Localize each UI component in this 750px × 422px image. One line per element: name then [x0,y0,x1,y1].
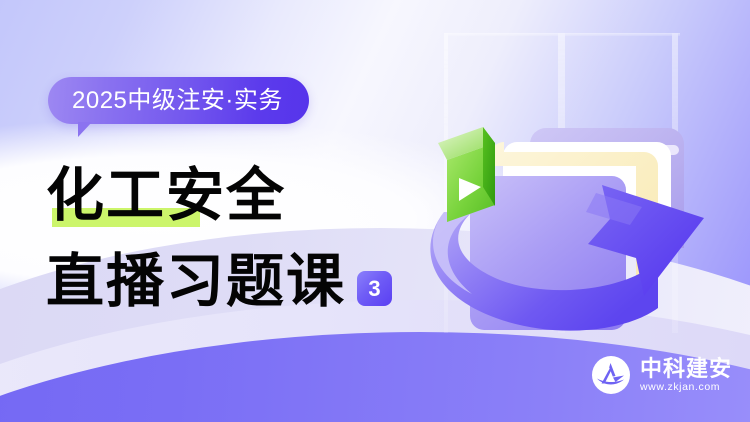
badge-label: 2025中级注安·实务 [72,89,283,113]
title-line-2: 直播习题课 [46,252,346,310]
brand-logo: 中科建安 www.zkjan.com [591,355,732,395]
logo-website-url: www.zkjan.com [640,382,732,393]
title-line-2-row: 直播习题课 3 [46,238,466,310]
badge-bubble: 2025中级注安·实务 [48,77,309,124]
badge-tail-icon [78,122,92,137]
person-mark-logo-icon [591,355,631,395]
title-line-1: 化工安全 [46,166,286,224]
logo-company-name: 中科建安 [640,358,732,380]
course-banner: 2025中级注安·实务 化工安全 直播习题课 3 中科建安 www.zkjan.… [0,0,750,422]
title-line-1-row: 化工安全 [46,152,466,224]
course-category-badge: 2025中级注安·实务 [48,77,309,124]
headline-block: 化工安全 直播习题课 3 [46,152,466,310]
logo-text-group: 中科建安 www.zkjan.com [640,358,732,393]
episode-number-badge: 3 [357,271,392,306]
